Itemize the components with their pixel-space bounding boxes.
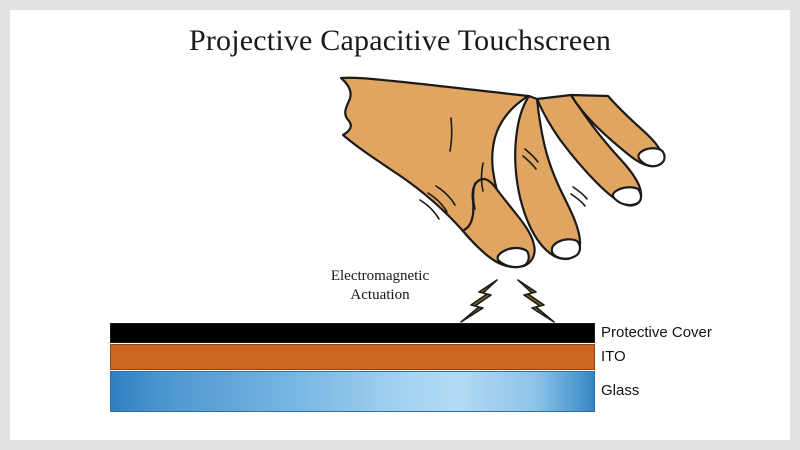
layer-glass <box>110 371 595 412</box>
touchscreen-layer-stack <box>110 323 595 412</box>
layer-protective-cover <box>110 323 595 343</box>
lightning-bolt-right <box>518 280 554 322</box>
lightning-bolt-left <box>461 280 497 322</box>
layer-label-ito: ITO <box>601 348 626 365</box>
layer-label-protective-cover: Protective Cover <box>601 324 712 341</box>
em-label-line-1: Electromagnetic <box>295 267 465 286</box>
diagram-canvas: Projective Capacitive Touchscreen <box>10 10 790 440</box>
layer-label-glass: Glass <box>601 382 639 399</box>
layer-ito <box>110 344 595 370</box>
em-label-line-2: Actuation <box>295 286 465 305</box>
page-title: Projective Capacitive Touchscreen <box>10 24 790 58</box>
lightning-bolt-group <box>455 278 560 326</box>
electromagnetic-actuation-label: Electromagnetic Actuation <box>295 267 465 305</box>
hand-illustration <box>323 55 673 290</box>
screenshot-root: Projective Capacitive Touchscreen <box>0 0 800 450</box>
